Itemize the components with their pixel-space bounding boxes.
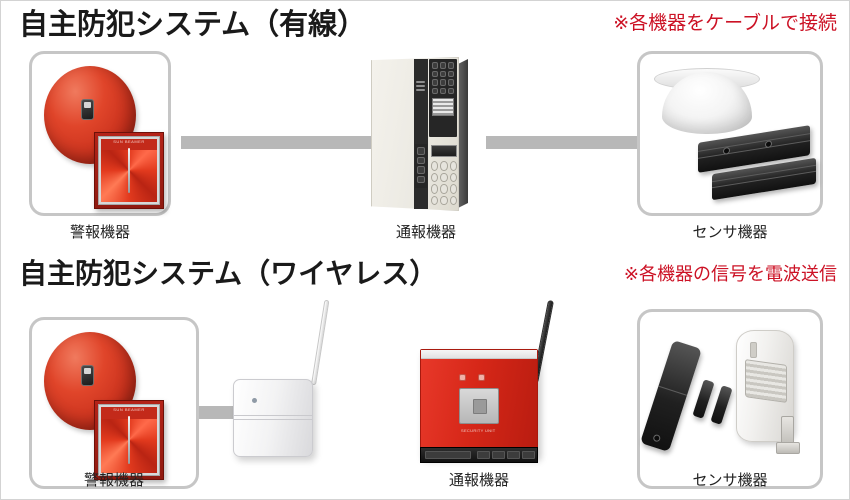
flasher-frame: SUN BEAMER [98, 404, 160, 476]
section-wired-note: ※各機器をケーブルで接続 [613, 14, 837, 33]
control-unit-indicator-leds [459, 374, 485, 381]
caption-alarm-wireless: 警報機器 [29, 473, 199, 488]
pir-indicator-slot [750, 342, 757, 358]
section-wired-header: 自主防犯システム（有線） ※各機器をケーブルで接続 [1, 1, 850, 47]
panel-strip-line-2 [416, 85, 425, 87]
control-unit-display-panel[interactable] [459, 388, 499, 424]
transmitter-body [233, 379, 313, 457]
magnet-piece-2 [710, 385, 732, 425]
transmitter-antenna-icon [311, 300, 329, 386]
transmitter-led-icon [252, 398, 257, 403]
caption-reporter-wired: 通報機器 [356, 225, 496, 240]
panel-upper-keypad[interactable] [432, 62, 454, 94]
panel-lcd-display [431, 145, 457, 157]
strobe-flasher-wireless: SUN BEAMER [94, 400, 164, 480]
device-box-alarm-wireless[interactable]: SUN BEAMER [29, 317, 199, 489]
bell-hub-icon [81, 365, 94, 386]
diagram-page: 自主防犯システム（有線） ※各機器をケーブルで接続 SUN BEAMER 警報機… [0, 0, 850, 500]
section-wireless-note: ※各機器の信号を電波送信 [624, 266, 837, 284]
section-wireless-title: 自主防犯システム（ワイヤレス） [19, 260, 437, 288]
panel-function-buttons[interactable] [417, 147, 425, 183]
pir-fresnel-lens [745, 359, 787, 403]
section-wired: 自主防犯システム（有線） ※各機器をケーブルで接続 SUN BEAMER 警報機… [1, 1, 850, 251]
section-wireless-header: 自主防犯システム（ワイヤレス） ※各機器の信号を電波送信 [1, 251, 850, 297]
panel-speaker-grill [432, 98, 454, 116]
caption-sensor-wired: センサ機器 [637, 225, 823, 240]
section-wireless: 自主防犯システム（ワイヤレス） ※各機器の信号を電波送信 SUN BEAMER … [1, 251, 850, 500]
panel-numeric-keypad[interactable] [431, 161, 457, 205]
control-unit-label: SECURITY UNIT [461, 428, 496, 433]
pir-base-plate [776, 442, 800, 454]
flasher-brand-text: SUN BEAMER [101, 139, 157, 150]
bell-hub-icon [81, 99, 94, 120]
flasher-brand-text: SUN BEAMER [101, 407, 157, 419]
caption-sensor-wireless: センサ機器 [637, 473, 823, 488]
magnet-piece-1 [692, 379, 714, 419]
device-box-alarm-wired[interactable]: SUN BEAMER [29, 51, 171, 216]
flasher-lens: SUN BEAMER [101, 139, 157, 202]
control-unit-body: SECURITY UNIT [420, 349, 538, 457]
control-unit-terminal-block [420, 447, 538, 463]
panel-strip-line-1 [416, 81, 425, 83]
flasher-lens: SUN BEAMER [101, 407, 157, 473]
flasher-frame: SUN BEAMER [98, 136, 160, 205]
device-box-sensor-wireless[interactable] [637, 309, 823, 489]
caption-reporter-wireless: 通報機器 [409, 473, 549, 488]
panel-strip-line-3 [416, 89, 425, 91]
strobe-flasher-wired: SUN BEAMER [94, 132, 164, 209]
control-unit-top-edge [421, 350, 537, 359]
section-wired-title: 自主防犯システム（有線） [19, 10, 366, 39]
black-magnetic-sensor [640, 340, 702, 452]
cable-alarm-to-reporter [181, 136, 371, 149]
caption-alarm-wired: 警報機器 [29, 225, 171, 240]
device-box-sensor-wired[interactable] [637, 51, 823, 216]
